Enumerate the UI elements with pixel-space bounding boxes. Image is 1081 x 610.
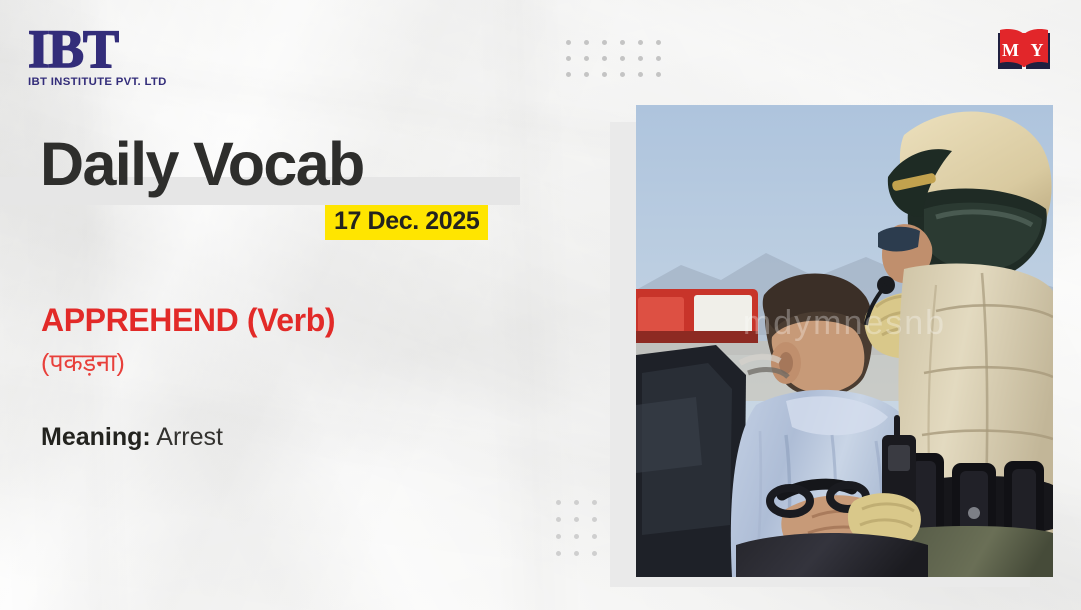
- dot: [602, 72, 607, 77]
- ibt-logo: IBT IBT INSTITUTE PVT. LTD: [28, 24, 228, 88]
- dot: [638, 40, 643, 45]
- dot: [592, 534, 597, 539]
- slide-root: IBT IBT INSTITUTE PVT. LTD M Y Daily Voc…: [0, 0, 1081, 610]
- ibt-logo-mark: IBT: [28, 24, 228, 75]
- dot: [656, 72, 661, 77]
- dot: [584, 56, 589, 61]
- dot: [592, 517, 597, 522]
- vocab-word: APPREHEND (Verb): [41, 304, 335, 336]
- dot: [584, 40, 589, 45]
- dot: [620, 56, 625, 61]
- dot: [620, 40, 625, 45]
- page-title: Daily Vocab: [40, 134, 364, 195]
- my-book-logo: M Y: [995, 26, 1053, 74]
- my-logo-letter-y: Y: [1031, 40, 1044, 60]
- dot: [574, 551, 579, 556]
- dot: [574, 534, 579, 539]
- dot: [556, 500, 561, 505]
- dot: [656, 56, 661, 61]
- dot-grid-top: [566, 40, 674, 88]
- dot: [656, 40, 661, 45]
- dot-grid-bottom: [556, 500, 610, 568]
- dot: [602, 56, 607, 61]
- vocab-translation: (पकड़ना): [41, 348, 125, 379]
- dot: [556, 551, 561, 556]
- dot: [574, 517, 579, 522]
- dot: [584, 72, 589, 77]
- dot: [638, 56, 643, 61]
- open-book-icon: M Y: [995, 26, 1053, 74]
- dot: [556, 534, 561, 539]
- dot: [556, 517, 561, 522]
- dot: [592, 500, 597, 505]
- vocab-meaning-row: Meaning: Arrest: [41, 425, 223, 450]
- date-badge: 17 Dec. 2025: [325, 205, 488, 240]
- arrest-photo: mdymnesnb: [636, 105, 1053, 577]
- meaning-value: Arrest: [156, 423, 223, 451]
- dot: [566, 40, 571, 45]
- my-logo-letter-m: M: [1002, 40, 1019, 60]
- dot: [638, 72, 643, 77]
- dot: [620, 72, 625, 77]
- dot: [592, 551, 597, 556]
- dot: [566, 56, 571, 61]
- dot: [602, 40, 607, 45]
- arrest-photo-illustration: [636, 105, 1053, 577]
- dot: [574, 500, 579, 505]
- dot: [566, 72, 571, 77]
- ibt-logo-subtitle: IBT INSTITUTE PVT. LTD: [28, 76, 228, 88]
- meaning-label: Meaning:: [41, 423, 151, 451]
